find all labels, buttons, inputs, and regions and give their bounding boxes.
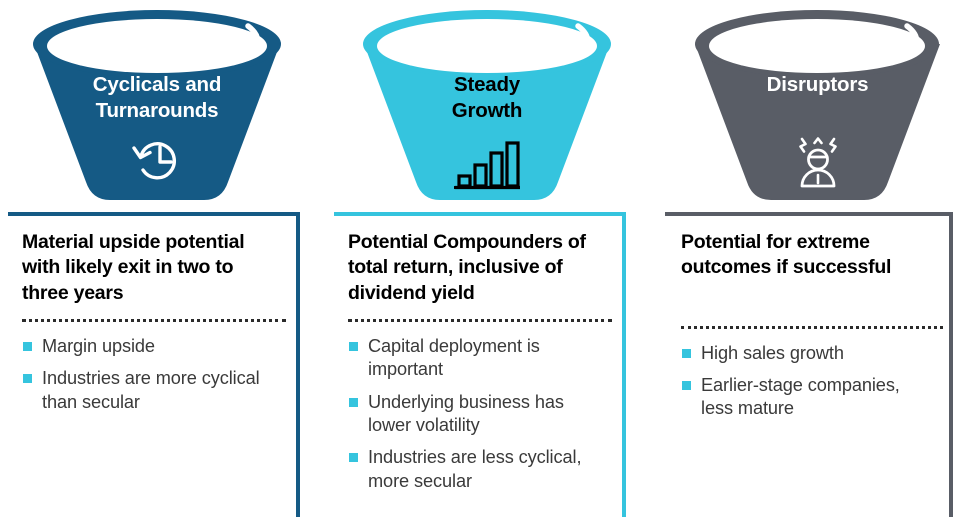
panel-heading: Material upside potential with likely ex… xyxy=(22,230,282,306)
bullet-square-icon xyxy=(349,342,358,351)
bullet-square-icon xyxy=(349,398,358,407)
list-item: Margin upside xyxy=(22,335,282,358)
bullet-square-icon xyxy=(682,349,691,358)
list-item-label: Capital deployment is important xyxy=(368,336,540,379)
panel-content: Potential Compounders of total return, i… xyxy=(348,230,608,502)
funnel-disruptors[interactable]: Disruptors xyxy=(675,4,960,204)
funnel-shape-icon xyxy=(342,4,632,204)
column-steady-growth: Steady Growth Potential Compounders of t… xyxy=(330,0,645,517)
list-item-label: High sales growth xyxy=(701,343,844,363)
column-disruptors: Disruptors xyxy=(655,0,960,517)
panel-steady-growth: Potential Compounders of total return, i… xyxy=(334,212,626,517)
list-item-label: Underlying business has lower volatility xyxy=(368,392,564,435)
bullet-square-icon xyxy=(682,381,691,390)
bullet-square-icon xyxy=(349,453,358,462)
panel-divider xyxy=(22,316,286,322)
column-cyclicals-and-turnarounds: Cyclicals and Turnarounds Material upsid… xyxy=(0,0,315,517)
list-item: Industries are less cyclical, more secul… xyxy=(348,446,608,493)
panel-content: Material upside potential with likely ex… xyxy=(22,230,282,423)
list-item-label: Industries are less cyclical, more secul… xyxy=(368,447,581,490)
list-item-label: Earlier-stage companies, less mature xyxy=(701,375,900,418)
panel-heading: Potential Compounders of total return, i… xyxy=(348,230,608,306)
panel-bullet-list: Capital deployment is important Underlyi… xyxy=(348,335,608,493)
list-item: Earlier-stage companies, less mature xyxy=(681,374,935,421)
list-item: Underlying business has lower volatility xyxy=(348,391,608,438)
panel-heading: Potential for extreme outcomes if succes… xyxy=(681,230,935,281)
three-bucket-strategy-diagram: Cyclicals and Turnarounds Material upsid… xyxy=(0,0,960,517)
panel-content: Potential for extreme outcomes if succes… xyxy=(681,230,935,430)
funnel-cyclicals-and-turnarounds[interactable]: Cyclicals and Turnarounds xyxy=(12,4,302,204)
list-item: Capital deployment is important xyxy=(348,335,608,382)
panel-divider xyxy=(348,316,612,322)
funnel-shape-icon xyxy=(12,4,302,204)
panel-disruptors: Potential for extreme outcomes if succes… xyxy=(665,212,953,517)
list-item-label: Industries are more cyclical than secula… xyxy=(42,368,260,411)
bullet-square-icon xyxy=(23,374,32,383)
list-item: High sales growth xyxy=(681,342,935,365)
funnel-shape-icon xyxy=(675,4,960,204)
list-item: Industries are more cyclical than secula… xyxy=(22,367,282,414)
panel-bullet-list: Margin upside Industries are more cyclic… xyxy=(22,335,282,414)
bullet-square-icon xyxy=(23,342,32,351)
funnel-steady-growth[interactable]: Steady Growth xyxy=(342,4,632,204)
list-item-label: Margin upside xyxy=(42,336,155,356)
panel-bullet-list: High sales growth Earlier-stage companie… xyxy=(681,342,935,421)
panel-divider xyxy=(681,323,943,329)
panel-cyclicals-and-turnarounds: Material upside potential with likely ex… xyxy=(8,212,300,517)
